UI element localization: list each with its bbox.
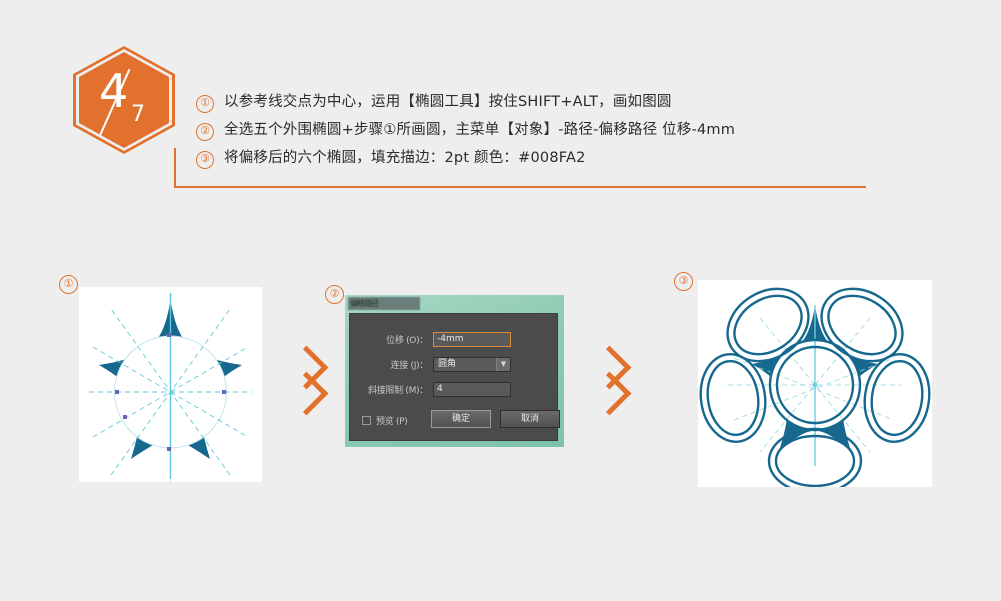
instruction-text-1: 以参考线交点为中心，运用【椭圆工具】按住SHIFT+ALT，画如图圆: [224, 92, 896, 112]
arrow-chevron-right-icon-2: [592, 352, 622, 406]
dialog-field-joins: 连接 (J)： 圆角 ▼: [350, 357, 511, 372]
header-block: 4 7 ① 以参考线交点为中心，运用【椭圆工具】按住SHIFT+ALT，画如图圆…: [0, 0, 1001, 210]
chevron-down-icon[interactable]: ▼: [496, 358, 510, 371]
connector-horizontal-line: [174, 186, 866, 188]
dialog-field-miterlimit: 斜接限制 (M)： 4: [350, 382, 511, 397]
ok-button[interactable]: 确定: [431, 410, 491, 428]
offset-input[interactable]: -4mm: [433, 332, 511, 347]
center-point: [813, 383, 818, 388]
joins-select[interactable]: 圆角 ▼: [433, 357, 511, 372]
panel-marker-2: ②: [325, 285, 344, 304]
miterlimit-input[interactable]: 4: [433, 382, 511, 397]
preview-label: 预览 (P): [376, 414, 408, 427]
instruction-list: ① 以参考线交点为中心，运用【椭圆工具】按住SHIFT+ALT，画如图圆 ② 全…: [196, 92, 896, 176]
offset-ellipses-artwork: [698, 280, 932, 487]
offset-label: 位移 (O)：: [350, 333, 428, 346]
connector-vertical-line: [174, 148, 176, 188]
panel-marker-1: ①: [59, 275, 78, 294]
instruction-item: ② 全选五个外围椭圆+步骤①所画圆，主菜单【对象】-路径-偏移路径 位移-4mm: [196, 120, 896, 141]
badge-total-steps: 7: [131, 104, 145, 126]
arrow-chevron-right-icon: [289, 352, 319, 406]
star-circle-artwork: [79, 287, 262, 482]
preview-checkbox-row[interactable]: 预览 (P): [362, 414, 408, 427]
instruction-text-3: 将偏移后的六个椭圆，填充描边：2pt 颜色：#008FA2: [224, 148, 896, 168]
instruction-text-2: 全选五个外围椭圆+步骤①所画圆，主菜单【对象】-路径-偏移路径 位移-4mm: [224, 120, 896, 140]
instruction-marker-3: ③: [196, 151, 214, 169]
joins-select-value: 圆角: [438, 359, 456, 369]
panel-marker-3: ③: [674, 272, 693, 291]
miterlimit-label: 斜接限制 (M)：: [350, 383, 428, 396]
instruction-item: ① 以参考线交点为中心，运用【椭圆工具】按住SHIFT+ALT，画如图圆: [196, 92, 896, 113]
instruction-item: ③ 将偏移后的六个椭圆，填充描边：2pt 颜色：#008FA2: [196, 148, 896, 169]
panel-six-offset-ellipses: [698, 280, 932, 487]
preview-checkbox[interactable]: [362, 416, 371, 425]
instruction-marker-2: ②: [196, 123, 214, 141]
panel-star-with-circle: [79, 287, 262, 482]
step-badge-hexagon: 4 7: [73, 46, 175, 154]
dialog-body: 位移 (O)： -4mm 连接 (J)： 圆角 ▼ 斜接限制 (M)： 4 预览…: [349, 313, 558, 441]
dialog-titlebar[interactable]: 偏移路径: [348, 297, 420, 310]
joins-label: 连接 (J)：: [350, 358, 428, 371]
dialog-field-offset: 位移 (O)： -4mm: [350, 332, 511, 347]
offset-path-dialog: 偏移路径 位移 (O)： -4mm 连接 (J)： 圆角 ▼ 斜接限制 (M)：…: [345, 295, 564, 447]
instruction-marker-1: ①: [196, 95, 214, 113]
cancel-button[interactable]: 取消: [500, 410, 560, 428]
